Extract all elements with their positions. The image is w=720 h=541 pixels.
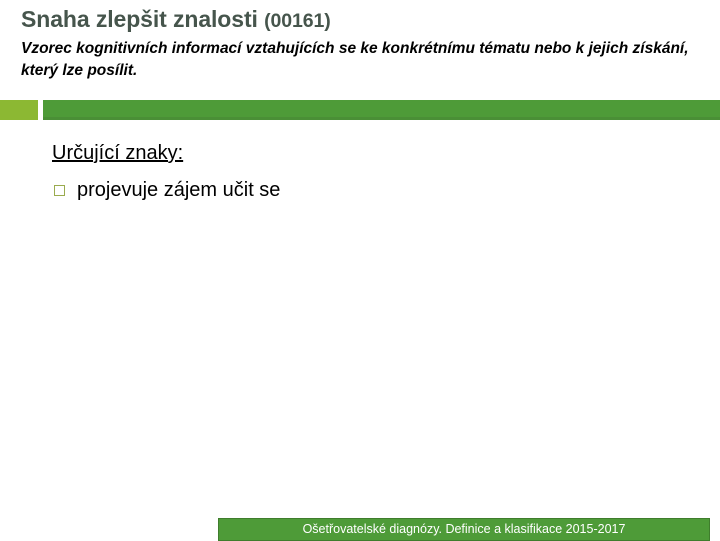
- body-heading: Určující znaky:: [52, 140, 183, 166]
- footer-banner: Ošetřovatelské diagnózy. Definice a klas…: [218, 518, 710, 541]
- title-area: Snaha zlepšit znalosti (00161) Vzorec ko…: [21, 6, 711, 81]
- body-content: Určující znaky: projevuje zájem učit se: [52, 140, 692, 204]
- bullet-list: projevuje zájem učit se: [52, 176, 692, 204]
- page-subtitle: Vzorec kognitivních informací vztahující…: [21, 38, 701, 81]
- footer-text: Ošetřovatelské diagnózy. Definice a klas…: [303, 523, 626, 536]
- page-title-code: (00161): [264, 10, 331, 32]
- hollow-square-bullet-icon: [54, 185, 65, 196]
- list-item-label: projevuje zájem učit se: [77, 176, 280, 204]
- page-title-text: Snaha zlepšit znalosti: [21, 6, 258, 32]
- divider-band: [0, 100, 720, 120]
- page-title: Snaha zlepšit znalosti (00161): [21, 6, 711, 32]
- slide-canvas: Snaha zlepšit znalosti (00161) Vzorec ko…: [0, 0, 720, 540]
- list-item: projevuje zájem učit se: [52, 176, 692, 204]
- divider-accent-block: [0, 100, 38, 120]
- divider-bar-shadow: [43, 117, 720, 120]
